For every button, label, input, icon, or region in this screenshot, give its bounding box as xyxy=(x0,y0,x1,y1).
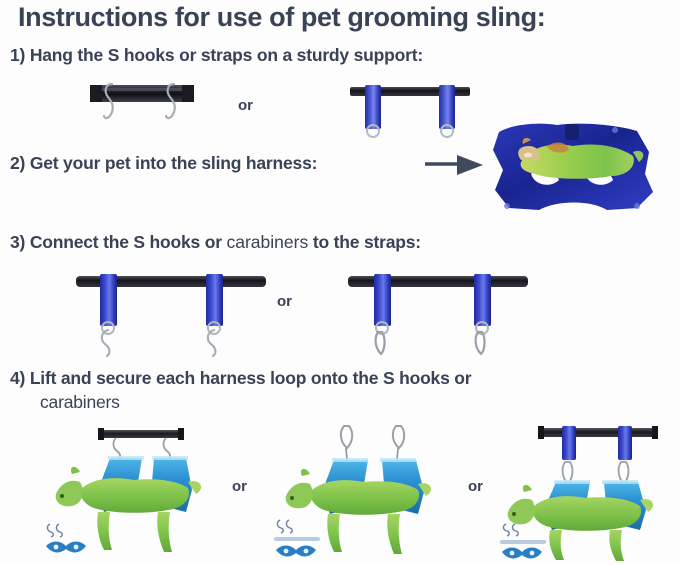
illustration-straps-with-carabiners xyxy=(348,268,528,358)
illustration-bar-with-s-hooks xyxy=(88,80,198,135)
harness-tab xyxy=(565,124,579,140)
step-2-text: 2) Get your pet into the sling harness: xyxy=(10,153,317,174)
carabiner-left xyxy=(376,332,385,354)
inset-sling-shape xyxy=(502,548,542,559)
inset-s-hook-1 xyxy=(47,524,53,537)
dog-leg-rear xyxy=(157,512,172,552)
dog-leg-rear xyxy=(609,530,624,561)
inset-sling-shape xyxy=(276,546,316,557)
dog-leg-rear xyxy=(387,514,402,554)
dog-body xyxy=(521,144,634,178)
carabiner-right xyxy=(476,332,485,354)
page-title: Instructions for use of pet grooming sli… xyxy=(18,2,545,33)
illustration-dog-in-harness xyxy=(487,122,663,214)
inset-s-hook-2 xyxy=(56,524,62,537)
inset-s-hook-1 xyxy=(277,520,283,533)
strap-left xyxy=(374,274,391,326)
inset-bar xyxy=(500,540,546,544)
step-1-or-separator: or xyxy=(238,97,253,114)
step-3-text-bold-a: 3) Connect the S hooks or xyxy=(10,232,227,252)
step-1-text: 1) Hang the S hooks or straps on a sturd… xyxy=(10,45,423,66)
strap-right xyxy=(474,274,491,326)
inset-accessories xyxy=(500,524,546,558)
dog-muzzle xyxy=(524,153,532,158)
dog-eye xyxy=(60,494,64,498)
illustration-bar-with-blue-straps xyxy=(348,80,472,140)
dog-body xyxy=(81,478,189,513)
inset-carabiner-1 xyxy=(503,524,509,536)
illustration-dog-suspended-carabiners xyxy=(272,420,457,562)
inset-bar xyxy=(274,537,320,541)
strap-left xyxy=(365,85,381,129)
step-3-text-bold-b: to the straps: xyxy=(308,232,421,252)
step-4-text-line2: carabiners xyxy=(40,392,120,413)
strap-right xyxy=(618,426,632,460)
dog-eye xyxy=(512,512,516,516)
step-4-or-separator-left: or xyxy=(232,478,247,495)
dog-leg-front xyxy=(97,512,112,550)
support-bar xyxy=(540,428,656,437)
support-bar xyxy=(100,430,182,438)
dog-body xyxy=(311,480,419,515)
instruction-sheet: Instructions for use of pet grooming sli… xyxy=(0,0,679,564)
strap-left xyxy=(562,426,576,460)
dog-eye xyxy=(290,496,294,500)
step-3-text-carabiners: carabiners xyxy=(227,232,309,252)
step-3-text: 3) Connect the S hooks or carabiners to … xyxy=(10,232,421,253)
inset-s-hook-2 xyxy=(286,520,292,533)
carabiner-left xyxy=(341,426,352,448)
inset-sling-shape xyxy=(46,542,86,553)
illustration-straps-with-s-hooks xyxy=(76,268,266,358)
strap-right xyxy=(206,274,223,326)
dog-ear xyxy=(523,485,532,492)
step-4-or-separator-right: or xyxy=(468,478,483,495)
carabiner-right xyxy=(393,426,404,448)
arrow-right-icon xyxy=(425,152,485,178)
dog-leg-front xyxy=(327,514,342,552)
strap-right xyxy=(439,85,455,129)
inset-accessories xyxy=(46,524,86,552)
strap-left xyxy=(100,274,117,326)
dog-ear xyxy=(301,469,310,476)
illustration-dog-suspended-straps-carabiners xyxy=(500,420,678,562)
inset-accessories xyxy=(274,520,320,556)
illustration-dog-suspended-s-hooks xyxy=(42,420,227,562)
dog-leg-front xyxy=(549,530,564,560)
step-4-text-line1: 4) Lift and secure each harness loop ont… xyxy=(10,368,471,389)
step-3-or-separator: or xyxy=(277,293,292,310)
dog-head xyxy=(508,499,535,525)
dog-head xyxy=(286,483,313,509)
dog-head xyxy=(56,481,83,507)
dog-body xyxy=(533,496,641,531)
inset-carabiner-2 xyxy=(512,524,518,536)
dog-ear xyxy=(71,467,80,474)
